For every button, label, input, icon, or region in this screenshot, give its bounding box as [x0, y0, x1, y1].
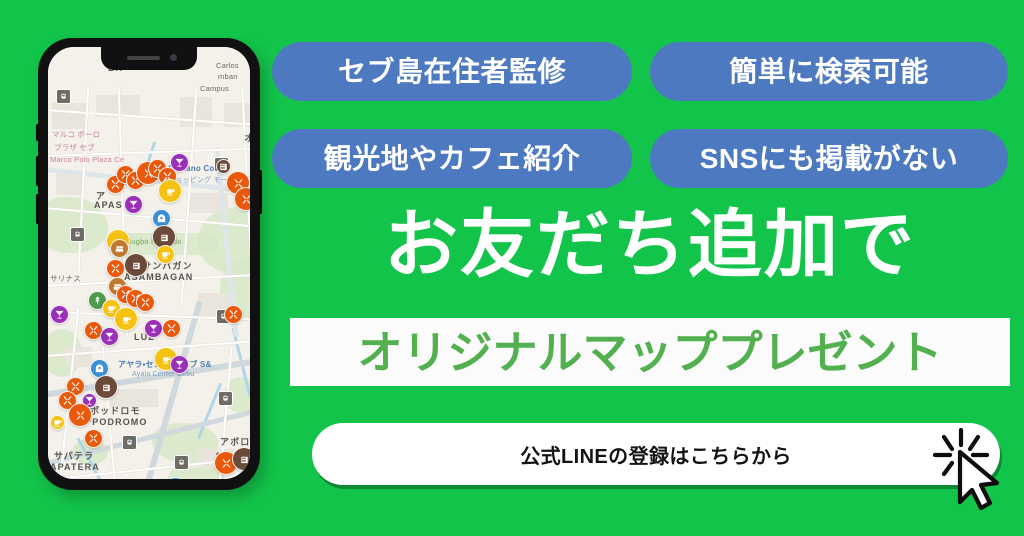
map-label: Marco Polo Plaza Ce — [50, 155, 124, 164]
coffee-cup-icon — [165, 186, 176, 197]
restaurant-icon — [62, 395, 73, 406]
map-pin-bar[interactable] — [144, 319, 163, 338]
map-pin-bar[interactable] — [170, 355, 189, 374]
map-canvas[interactable]: BACarlosmbanCampusマルコ ポーロプラザ セブMarco Pol… — [48, 47, 250, 479]
transit-station-icon[interactable] — [122, 435, 137, 450]
feature-pill-label: 簡単に検索可能 — [729, 58, 929, 86]
restaurant-icon — [221, 458, 232, 469]
map-pin-bar[interactable] — [50, 305, 69, 324]
shopping-bag-icon — [94, 363, 105, 374]
phone-mockup: BACarlosmbanCampusマルコ ポーロプラザ セブMarco Pol… — [38, 38, 260, 490]
map-label: サリナス — [50, 273, 81, 284]
restaurant-icon — [140, 297, 151, 308]
feature-pill-not-on-sns[interactable]: SNSにも掲載がない — [650, 129, 1008, 188]
coffee-cup-icon — [121, 314, 132, 325]
cocktail-glass-icon — [174, 157, 185, 168]
cocktail-glass-icon — [148, 323, 159, 334]
headline: お友だち追加で — [290, 208, 1010, 282]
map-label: Carlos — [216, 61, 239, 70]
map-pin-cafe[interactable] — [114, 307, 138, 331]
cta-label: 公式LINEの登録はこちらから — [520, 440, 792, 469]
phone-notch — [101, 47, 197, 70]
tree-icon — [92, 295, 103, 306]
restaurant-icon — [70, 381, 81, 392]
map-pin-museum[interactable] — [124, 253, 148, 277]
restaurant-icon — [110, 263, 121, 274]
map-pin-bar[interactable] — [170, 153, 189, 172]
feature-pill-sightseeing-cafes[interactable]: 観光地やカフェ紹介 — [272, 129, 632, 188]
shopping-bag-icon — [156, 213, 167, 224]
volume-down-button — [36, 194, 39, 224]
promo-banner: BACarlosmbanCampusマルコ ポーロプラザ セブMarco Pol… — [0, 0, 1024, 536]
map-label: プラザ セブ — [54, 142, 95, 153]
map-label: mban — [218, 72, 238, 81]
coffee-cup-icon — [160, 249, 171, 260]
museum-building-icon — [101, 382, 112, 393]
cocktail-glass-icon — [104, 331, 115, 342]
map-pin-food[interactable] — [224, 305, 243, 324]
map-pin-food[interactable] — [162, 319, 181, 338]
subheadline-box: オリジナルマッププレゼント — [290, 318, 1010, 386]
museum-building-icon — [131, 260, 142, 271]
map-label: サパテラ — [54, 449, 94, 462]
map-pin-bar[interactable] — [124, 195, 143, 214]
cocktail-glass-icon — [128, 199, 139, 210]
restaurant-icon — [88, 325, 99, 336]
map-label: Campus — [200, 84, 229, 93]
map-block — [52, 103, 88, 129]
transit-station-icon[interactable] — [70, 227, 85, 242]
map-pin-food[interactable] — [68, 403, 92, 427]
map-pin-bar[interactable] — [100, 327, 119, 346]
map-block — [66, 347, 92, 367]
map-pin-food[interactable] — [106, 259, 125, 278]
bed-icon — [114, 243, 125, 254]
transit-station-icon[interactable] — [218, 391, 233, 406]
map-label: アボロ — [220, 435, 250, 448]
map-label: マルコ ポーロ — [52, 129, 100, 140]
mute-switch — [36, 124, 39, 141]
front-camera-icon — [170, 54, 177, 61]
map-pin-food[interactable] — [136, 293, 155, 312]
feature-pill-label: 観光地やカフェ紹介 — [324, 145, 581, 173]
restaurant-icon — [75, 410, 86, 421]
map-pin-cafe[interactable] — [156, 245, 175, 264]
map-pin-museum[interactable] — [216, 159, 231, 174]
map-pin-cafe[interactable] — [50, 415, 65, 430]
map-label: オビ — [244, 131, 250, 144]
map-block — [56, 173, 84, 195]
map-pin-hotel[interactable] — [110, 239, 129, 258]
museum-building-icon — [218, 161, 229, 172]
restaurant-icon — [88, 433, 99, 444]
cta-register-line-button[interactable]: 公式LINEの登録はこちらから — [312, 423, 1000, 485]
restaurant-icon — [166, 323, 177, 334]
phone-screen: BACarlosmbanCampusマルコ ポーロプラザ セブMarco Pol… — [48, 47, 250, 479]
feature-pill-cebu-resident-supervised[interactable]: セブ島在住者監修 — [272, 42, 632, 101]
feature-pill-label: SNSにも掲載がない — [700, 145, 959, 173]
map-pin-museum[interactable] — [232, 447, 250, 471]
museum-building-icon — [239, 454, 250, 465]
coffee-cup-icon — [52, 417, 63, 428]
feature-pill-label: セブ島在住者監修 — [338, 58, 566, 86]
transit-station-icon[interactable] — [56, 89, 71, 104]
volume-up-button — [36, 156, 39, 186]
museum-building-icon — [159, 232, 170, 243]
map-pin-museum[interactable] — [94, 375, 118, 399]
cocktail-glass-icon — [174, 359, 185, 370]
restaurant-icon — [228, 309, 239, 320]
map-label: APAS — [94, 200, 123, 210]
headline-line-1: お友だち追加で — [384, 203, 916, 286]
speaker-icon — [127, 56, 160, 60]
subheadline-text: オリジナルマッププレゼント — [357, 330, 942, 375]
map-pin-food[interactable] — [84, 429, 103, 448]
power-button — [259, 170, 262, 214]
map-pin-cafe[interactable] — [158, 179, 182, 203]
cocktail-glass-icon — [54, 309, 65, 320]
map-label: APATERA — [50, 462, 100, 472]
transit-station-icon[interactable] — [174, 455, 189, 470]
restaurant-icon — [241, 194, 251, 205]
feature-pill-easy-search[interactable]: 簡単に検索可能 — [650, 42, 1008, 101]
